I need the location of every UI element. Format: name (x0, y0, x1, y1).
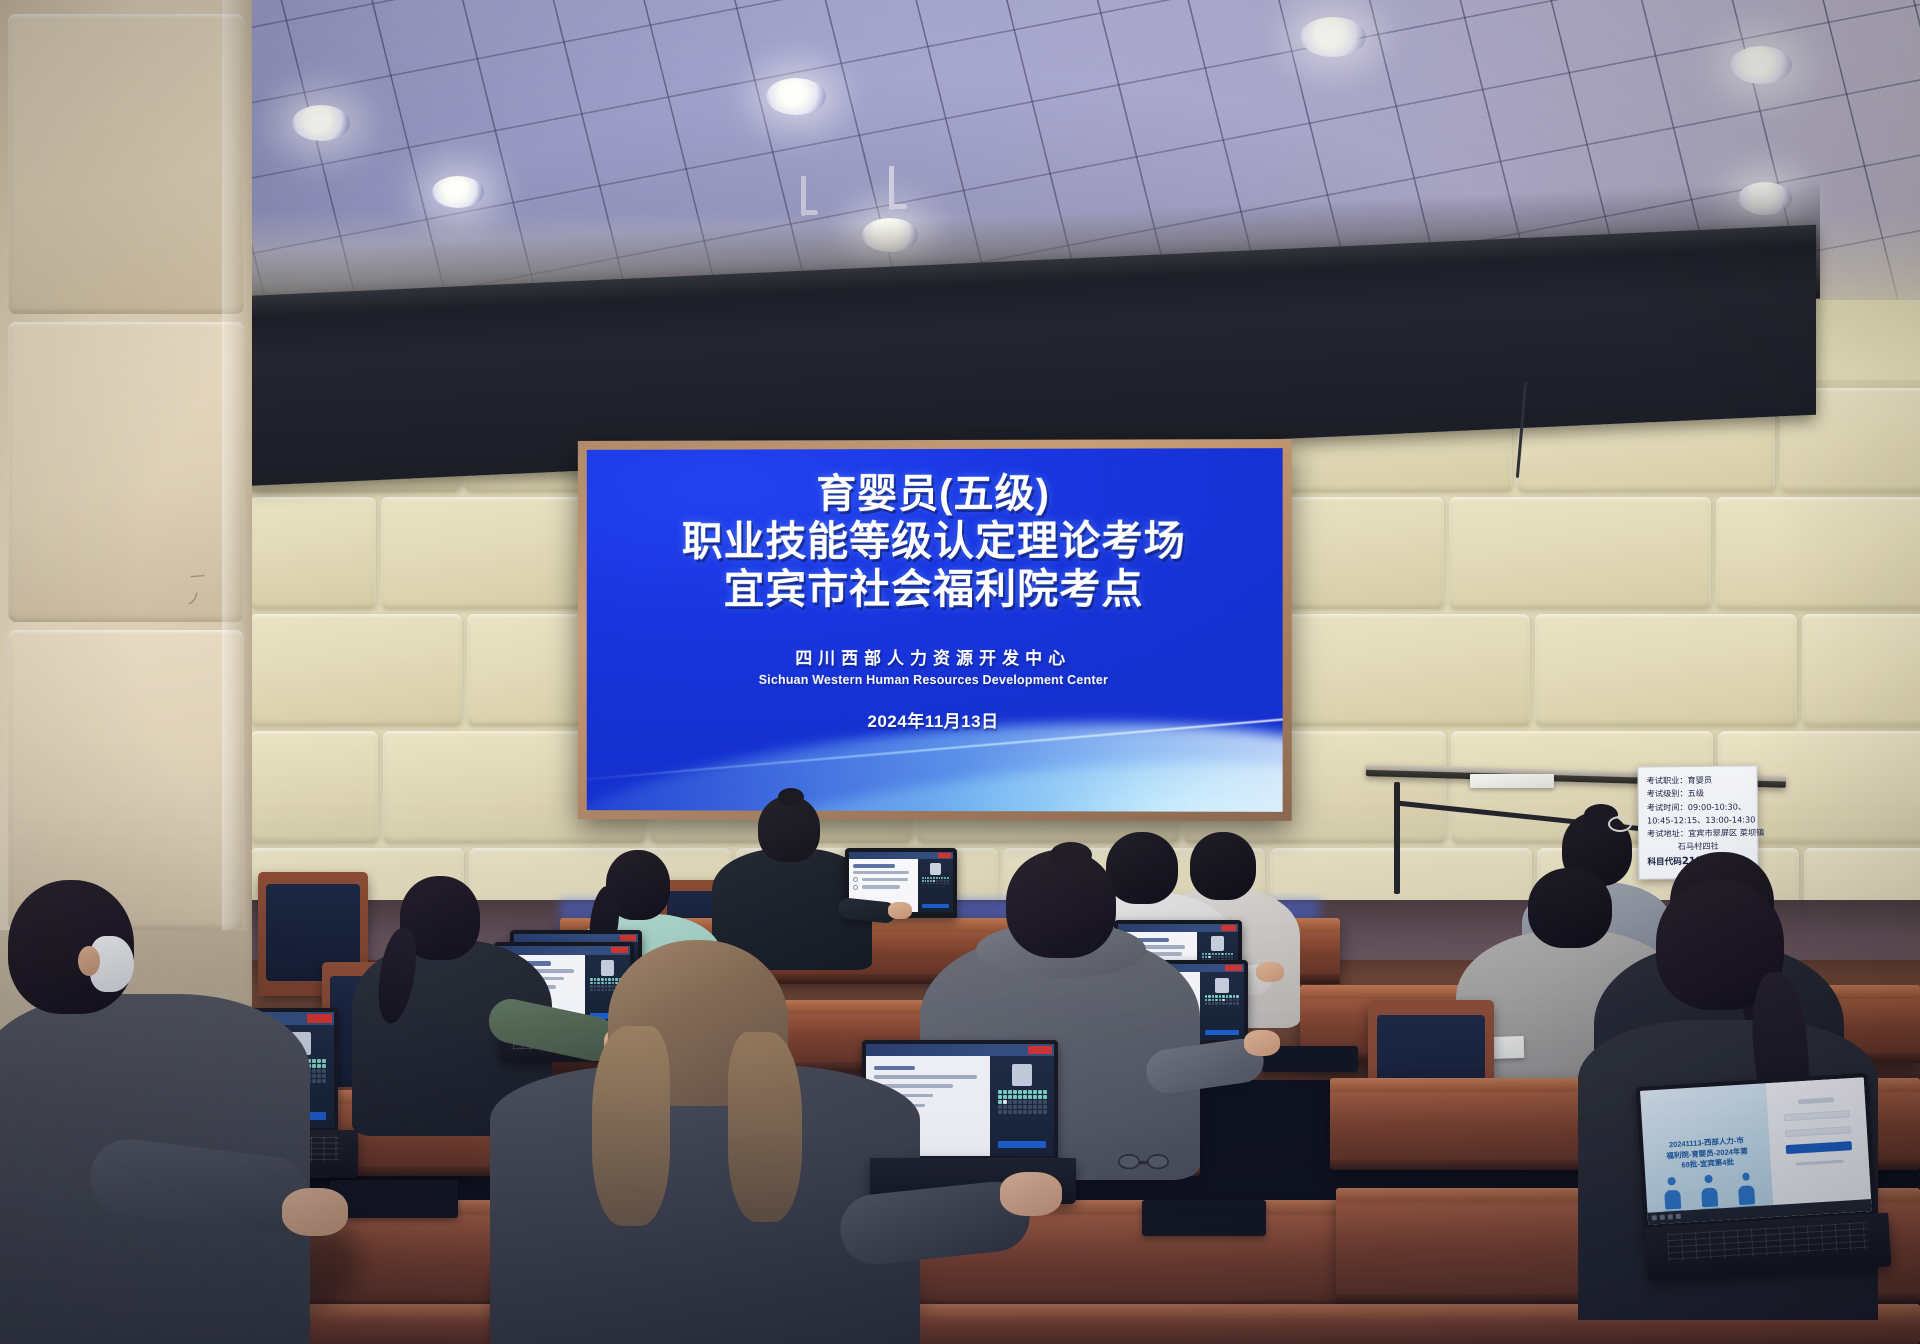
answer-cell[interactable] (1023, 1100, 1027, 1104)
hair-bun (778, 788, 804, 806)
candidate-photo (1012, 1064, 1032, 1086)
answer-cell[interactable] (1212, 1002, 1214, 1004)
slide-organization-en: Sichuan Western Human Resources Developm… (759, 673, 1108, 687)
downlight-3 (766, 78, 826, 115)
mousepad-foreground-left (330, 1180, 458, 1218)
answer-cell[interactable] (1038, 1100, 1042, 1104)
hair-fall-left (592, 1026, 670, 1226)
wall-pad (1268, 614, 1530, 726)
exit-button[interactable] (1225, 965, 1242, 971)
downlight-2 (432, 176, 484, 208)
answer-cell[interactable] (1218, 956, 1220, 958)
answer-cell[interactable] (1231, 953, 1233, 955)
answer-cell[interactable] (1003, 1105, 1007, 1109)
answer-cell[interactable] (1205, 995, 1207, 997)
answer-cell[interactable] (1008, 1100, 1012, 1104)
answer-cell[interactable] (1205, 999, 1207, 1001)
notice-line-profession: 考试职业：育婴员 (1646, 773, 1748, 787)
answer-cell[interactable] (1008, 1095, 1012, 1099)
answer-cell[interactable] (1222, 995, 1224, 997)
answer-cell[interactable] (1219, 1002, 1221, 1004)
answer-card-grid[interactable] (1205, 995, 1239, 1027)
candidate-photo (1215, 978, 1229, 994)
answer-cell[interactable] (1233, 995, 1235, 997)
answer-cell[interactable] (1228, 956, 1230, 958)
answer-cell[interactable] (1212, 956, 1214, 958)
taskbar-icon[interactable] (1660, 1215, 1665, 1220)
answer-cell[interactable] (1013, 1095, 1017, 1099)
answer-cell[interactable] (1212, 995, 1214, 997)
answer-cell[interactable] (1212, 999, 1214, 1001)
answer-cell[interactable] (1008, 1110, 1012, 1114)
answer-cell[interactable] (322, 1069, 326, 1073)
answer-cell[interactable] (1215, 995, 1217, 997)
slide-title-line-3: 宜宾市社会福利院考点 (682, 566, 1186, 614)
answer-cell[interactable] (1229, 1002, 1231, 1004)
answer-cell[interactable] (1236, 999, 1238, 1001)
folding-table-leg-left (1394, 782, 1400, 894)
answer-cell[interactable] (1038, 1110, 1042, 1114)
pillar-pencil-mark-2: ノ (185, 587, 202, 609)
answer-cell[interactable] (322, 1059, 326, 1063)
downlight-6 (1730, 46, 1792, 84)
laptop-screen: 20241113-西部人力-市 福利院-育婴员-2024年第 69批-宜宾第4批 (1640, 1077, 1872, 1224)
answer-cell[interactable] (1008, 1090, 1012, 1094)
answer-cell[interactable] (1033, 1095, 1037, 1099)
answer-cell[interactable] (1219, 995, 1221, 997)
answer-cell[interactable] (1008, 1105, 1012, 1109)
answer-cell[interactable] (312, 1079, 316, 1083)
wall-pad (250, 614, 462, 726)
answer-cell[interactable] (317, 1079, 321, 1083)
answer-cell[interactable] (1228, 953, 1230, 955)
answer-cell[interactable] (1215, 953, 1217, 955)
answer-cell[interactable] (312, 1064, 316, 1068)
answer-cell[interactable] (1033, 1105, 1037, 1109)
notice-line-time-2: 10:45-12:15、13:00-14:30 (1647, 813, 1749, 827)
answer-cell[interactable] (1229, 995, 1231, 997)
led-screen-frame: 育婴员(五级) 职业技能等级认定理论考场 宜宾市社会福利院考点 四川西部人力资源… (578, 439, 1292, 821)
figure-head (1742, 1173, 1750, 1181)
answer-cell-current[interactable] (1003, 1100, 1007, 1104)
mousepad-foreground-center (1142, 1200, 1266, 1236)
login-username-field[interactable] (1784, 1110, 1851, 1121)
answer-cell[interactable] (1205, 1002, 1207, 1004)
pillar-pad-1 (8, 14, 244, 314)
answer-cell[interactable] (1215, 999, 1217, 1001)
slide-date: 2024年11月13日 (867, 707, 998, 732)
keyboard-keys[interactable] (1667, 1221, 1868, 1261)
answer-cell[interactable] (1023, 1110, 1027, 1114)
answer-cell[interactable] (998, 1095, 1002, 1099)
answer-cell[interactable] (1028, 1110, 1032, 1114)
hair-bun (1050, 842, 1092, 868)
answer-cell[interactable] (1222, 1002, 1224, 1004)
glasses-lens-right (1147, 1154, 1169, 1169)
wall-pad (1716, 497, 1920, 609)
question-text-line (853, 871, 909, 875)
ceiling-hook-1-tip (801, 210, 818, 215)
answer-cell[interactable] (1038, 1095, 1042, 1099)
option-radio[interactable] (853, 885, 858, 890)
answer-cell[interactable] (1003, 1110, 1007, 1114)
answer-cell[interactable] (1043, 1100, 1047, 1104)
answer-cell[interactable] (1023, 1095, 1027, 1099)
answer-cell-current[interactable] (1208, 956, 1210, 958)
taskbar-icon[interactable] (1668, 1215, 1673, 1220)
hair-clip (1608, 816, 1632, 832)
hand-foreground-center (1000, 1172, 1062, 1216)
answer-cell[interactable] (1226, 999, 1228, 1001)
table-paper-1 (1470, 774, 1554, 788)
exit-button[interactable] (307, 1014, 332, 1023)
option-text (862, 878, 908, 882)
answer-cell[interactable] (322, 1079, 326, 1083)
answer-cell[interactable] (1033, 1110, 1037, 1114)
answer-cell[interactable] (1003, 1090, 1007, 1094)
downlight-1 (292, 105, 350, 141)
exam-cover-slide: 20241113-西部人力-市 福利院-育婴员-2024年第 69批-宜宾第4批 (1640, 1077, 1872, 1224)
ceiling-hook-2-tip (889, 204, 907, 209)
answer-cell[interactable] (317, 1064, 321, 1068)
login-heading (1798, 1097, 1835, 1104)
answer-cell[interactable] (1219, 999, 1221, 1001)
answer-cell[interactable] (1236, 995, 1238, 997)
taskbar-icon[interactable] (1676, 1214, 1681, 1219)
laptop-lid: 20241113-西部人力-市 福利院-育婴员-2024年第 69批-宜宾第4批 (1636, 1073, 1876, 1231)
slide-organization-cn: 四川西部人力资源开发中心 (795, 644, 1071, 669)
option-radio[interactable] (853, 877, 858, 882)
login-password-field[interactable] (1785, 1126, 1852, 1137)
answer-cell[interactable] (312, 1059, 316, 1063)
answer-cell[interactable] (1043, 1110, 1047, 1114)
login-submit-button[interactable] (1786, 1142, 1853, 1155)
glasses-lens-left (1118, 1154, 1140, 1169)
hand-grey-hoodie (1244, 1030, 1280, 1056)
cover-left-panel: 20241113-西部人力-市 福利院-育婴员-2024年第 69批-宜宾第4批 (1640, 1083, 1774, 1224)
login-footnote (1796, 1160, 1844, 1166)
answer-cell[interactable] (1018, 1110, 1022, 1114)
answer-cell[interactable] (1013, 1105, 1017, 1109)
slide-title-line-1: 育婴员(五级) (682, 470, 1186, 518)
wall-pad (1802, 614, 1920, 726)
answer-cell[interactable] (1226, 995, 1228, 997)
laptop-foreground-right: 20241113-西部人力-市 福利院-育婴员-2024年第 69批-宜宾第4批 (1636, 1073, 1876, 1231)
figure-body (1701, 1188, 1718, 1207)
slide-title: 育婴员(五级) 职业技能等级认定理论考场 宜宾市社会福利院考点 (682, 470, 1186, 613)
answer-cell[interactable] (1038, 1105, 1042, 1109)
answer-cell[interactable] (1013, 1100, 1017, 1104)
candidate-photo (1211, 936, 1223, 950)
figure-head (1668, 1177, 1676, 1185)
answer-cell[interactable] (322, 1064, 326, 1068)
answer-cell[interactable] (312, 1074, 316, 1078)
wall-pad (250, 731, 378, 843)
answer-cell[interactable] (1043, 1090, 1047, 1094)
hand-foreground-left (282, 1188, 348, 1236)
answer-cell[interactable] (1205, 953, 1207, 955)
answer-cell[interactable] (998, 1100, 1002, 1104)
hand-back-center (888, 902, 912, 919)
figure-body (1664, 1190, 1681, 1209)
answer-cell[interactable] (1233, 1002, 1235, 1004)
pillar-pencil-mark: 一 (189, 565, 206, 587)
answer-cell[interactable] (1043, 1105, 1047, 1109)
answer-cell[interactable] (1018, 1100, 1022, 1104)
submit-button[interactable] (1205, 1030, 1239, 1035)
answer-cell[interactable] (1038, 1090, 1042, 1094)
answer-cell[interactable] (1028, 1105, 1032, 1109)
person-foreground-center (490, 940, 920, 1344)
answer-cell[interactable] (1226, 1002, 1228, 1004)
answer-cell-current[interactable] (1222, 999, 1224, 1001)
answer-cell[interactable] (1018, 1105, 1022, 1109)
slide-title-line-2: 职业技能等级认定理论考场 (682, 517, 1186, 566)
cover-slide-title: 20241113-西部人力-市 福利院-育婴员-2024年第 69批-宜宾第4批 (1658, 1135, 1757, 1173)
answer-card-panel (1200, 972, 1244, 1040)
answer-cell[interactable] (1013, 1110, 1017, 1114)
answer-cell[interactable] (998, 1110, 1002, 1114)
taskbar-icon[interactable] (1652, 1216, 1657, 1221)
question-title-line (853, 864, 895, 869)
answer-cell[interactable] (1202, 956, 1204, 958)
answer-cell[interactable] (1208, 999, 1210, 1001)
answer-cell[interactable] (317, 1059, 321, 1063)
answer-cell[interactable] (1033, 1090, 1037, 1094)
hair-fall-right (728, 1032, 802, 1222)
answer-cell[interactable] (1018, 1095, 1022, 1099)
exam-room-scene: 育婴员(五级) 职业技能等级认定理论考场 宜宾市社会福利院考点 四川西部人力资源… (0, 0, 1920, 1344)
answer-card-grid[interactable] (998, 1090, 1047, 1138)
answer-cell[interactable] (1208, 953, 1210, 955)
answer-cell[interactable] (1028, 1095, 1032, 1099)
hand-white-puffer (1256, 962, 1284, 982)
answer-cell[interactable] (1028, 1090, 1032, 1094)
answer-cell[interactable] (1236, 1002, 1238, 1004)
wall-pad (250, 497, 376, 609)
downlight-5 (1300, 17, 1366, 57)
answer-cell[interactable] (1003, 1095, 1007, 1099)
ear (78, 946, 100, 976)
answer-cell[interactable] (1218, 953, 1220, 955)
notice-line-time-1: 考试时间：09:00-10:30、 (1647, 800, 1749, 814)
answer-cell[interactable] (1225, 956, 1227, 958)
answer-option[interactable] (853, 877, 913, 882)
answer-cell[interactable] (1033, 1100, 1037, 1104)
answer-cell[interactable] (317, 1069, 321, 1073)
answer-card-panel (990, 1056, 1054, 1156)
notice-line-level: 考试级别：五级 (1647, 787, 1749, 801)
answer-cell[interactable] (1225, 953, 1227, 955)
answer-cell[interactable] (998, 1105, 1002, 1109)
answer-cell[interactable] (1233, 999, 1235, 1001)
answer-cell[interactable] (1215, 1002, 1217, 1004)
answer-cell[interactable] (1208, 1002, 1210, 1004)
answer-cell[interactable] (1215, 956, 1217, 958)
slide-content: 育婴员(五级) 职业技能等级认定理论考场 宜宾市社会福利院考点 四川西部人力资源… (587, 448, 1283, 812)
answer-cell[interactable] (322, 1074, 326, 1078)
answer-cell[interactable] (1221, 956, 1223, 958)
option-text (862, 885, 900, 889)
answer-cell[interactable] (1212, 953, 1214, 955)
figure-body (1738, 1186, 1755, 1205)
answer-cell[interactable] (1208, 995, 1210, 997)
wall-pad (1535, 614, 1797, 726)
exit-button[interactable] (1221, 925, 1236, 930)
answer-cell[interactable] (1043, 1095, 1047, 1099)
answer-cell[interactable] (1205, 956, 1207, 958)
answer-cell[interactable] (1229, 999, 1231, 1001)
answer-cell[interactable] (312, 1069, 316, 1073)
person-foreground-left (0, 880, 310, 1344)
figure-head (1705, 1175, 1713, 1183)
answer-cell[interactable] (998, 1090, 1002, 1094)
answer-cell[interactable] (1018, 1090, 1022, 1094)
answer-cell[interactable] (1013, 1090, 1017, 1094)
answer-cell[interactable] (317, 1074, 321, 1078)
submit-button[interactable] (998, 1141, 1047, 1149)
exit-button[interactable] (1028, 1046, 1052, 1055)
pillar-pad-2 (8, 322, 244, 622)
answer-cell[interactable] (1231, 956, 1233, 958)
answer-cell[interactable] (1023, 1090, 1027, 1094)
answer-cell[interactable] (1202, 953, 1204, 955)
answer-cell[interactable] (1221, 953, 1223, 955)
led-screen: 育婴员(五级) 职业技能等级认定理论考场 宜宾市社会福利院考点 四川西部人力资源… (587, 448, 1283, 812)
answer-cell[interactable] (1023, 1105, 1027, 1109)
wall-pad (1449, 497, 1711, 609)
login-panel (1766, 1077, 1872, 1217)
answer-option[interactable] (853, 885, 913, 890)
notice-line-address-1: 考试地址：宜宾市翠屏区 菜坝镇 (1647, 827, 1749, 841)
answer-cell[interactable] (1028, 1100, 1032, 1104)
